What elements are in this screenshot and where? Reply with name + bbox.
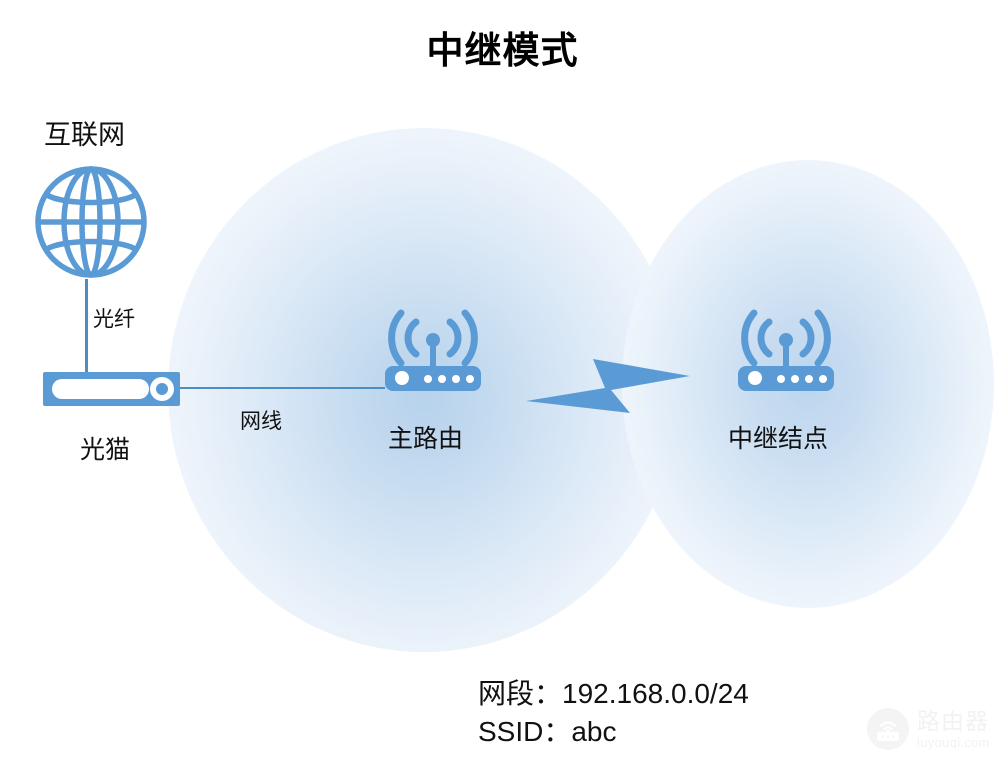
lightning-bolt-icon (522, 355, 694, 417)
ssid-text: SSID：abc (478, 713, 749, 751)
main-router-icon (380, 297, 486, 397)
relay-node-label: 中继结点 (728, 419, 828, 455)
relay-router-icon (733, 297, 839, 397)
fiber-link-label: 光纤 (93, 303, 135, 333)
watermark: 路由器 luyouqi.com (866, 700, 998, 758)
modem-label: 光猫 (80, 430, 130, 466)
internet-label: 互联网 (44, 113, 125, 152)
ethernet-link-label: 网线 (240, 405, 282, 435)
page-title: 中继模式 (0, 20, 1005, 74)
ethernet-link-line (180, 387, 385, 389)
network-info-block: 网段：192.168.0.0/24 SSID：abc (478, 675, 749, 752)
main-router-label: 主路由 (388, 419, 463, 455)
globe-icon (33, 163, 149, 281)
router-circle-icon (866, 707, 910, 751)
watermark-domain: luyouqi.com (917, 736, 990, 749)
modem-icon (43, 372, 180, 406)
watermark-name: 路由器 (917, 710, 990, 733)
subnet-text: 网段：192.168.0.0/24 (478, 675, 749, 713)
fiber-link-line (85, 279, 88, 374)
watermark-text: 路由器 luyouqi.com (917, 710, 990, 749)
diagram-canvas: 中继模式 互联网 光纤 光猫 网线 (0, 0, 1005, 774)
